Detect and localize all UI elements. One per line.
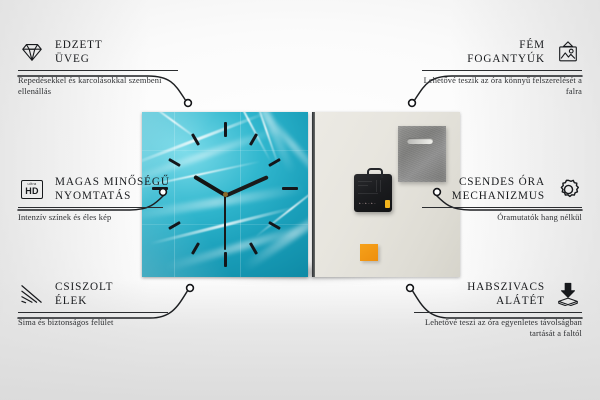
gear-icon <box>554 176 582 202</box>
callout-metal-handles[interactable]: FÉM FOGANTYÚK Lehetővé teszik az óra kön… <box>382 38 582 97</box>
callout-subtitle: Sima és biztonságos felület <box>18 317 178 328</box>
polished-edges-icon <box>18 281 46 307</box>
callout-title-line1: MAGAS MINŐSÉGŰ <box>55 176 170 188</box>
clock-tick-6 <box>224 252 227 267</box>
callout-title-line2: FOGANTYÚK <box>467 53 545 65</box>
infographic-stage: + - + - + - <box>0 0 600 400</box>
callout-divider <box>422 207 582 208</box>
callout-subtitle: Lehetővé teszi az óra egyenletes távolsá… <box>414 317 582 339</box>
callout-subtitle: Repedésekkel és karcolásokkal szembeni e… <box>18 75 178 97</box>
picture-hanger-icon <box>554 39 582 65</box>
callout-title-line2: ÉLEK <box>55 295 87 307</box>
callout-title-line2: ALÁTÉT <box>496 295 545 307</box>
connector-dot-tempered-glass <box>185 100 192 107</box>
callout-title-line1: HABSZIVACS <box>467 281 545 293</box>
foam-spacer-pad <box>360 244 378 261</box>
clock-tick-3 <box>282 187 298 190</box>
callout-title-line1: FÉM <box>519 39 545 51</box>
callout-subtitle: Intenzív színek és éles kép <box>18 212 178 223</box>
callout-subtitle: Óramutatók hang nélkül <box>422 212 582 223</box>
diamond-icon <box>18 39 46 65</box>
ultra-hd-big-text: HD <box>25 186 38 196</box>
callout-tempered-glass[interactable]: EDZETT ÜVEG Repedésekkel és karcolásokka… <box>18 38 218 97</box>
clock-center-cap <box>223 192 228 197</box>
callout-title-line1: CSISZOLT <box>55 281 113 293</box>
callout-polished-edges[interactable]: CSISZOLT ÉLEK Sima és biztonságos felüle… <box>18 280 218 328</box>
callout-subtitle: Lehetővé teszik az óra könnyű felszerelé… <box>422 75 582 97</box>
foam-pad-arrow-icon <box>554 281 582 307</box>
callout-quiet-mechanism[interactable]: CSENDES ÓRA MECHANIZMUS Óramutatók hang … <box>382 175 582 223</box>
callout-divider <box>414 312 582 313</box>
clock-second-hand <box>224 194 226 250</box>
callout-title-line1: EDZETT <box>55 39 103 51</box>
callout-title-line2: ÜVEG <box>55 53 90 65</box>
ultra-hd-icon: ultra HD <box>18 176 46 202</box>
callout-divider <box>18 312 168 313</box>
hanger-keyhole-slot <box>407 138 433 144</box>
callout-divider <box>18 207 163 208</box>
callout-divider <box>422 70 582 71</box>
callout-divider <box>18 70 178 71</box>
clock-tick-12 <box>224 122 227 137</box>
callout-high-quality-print[interactable]: ultra HD MAGAS MINŐSÉGŰ NYOMTATÁS Intenz… <box>18 175 218 223</box>
connector-dot-metal-handles <box>409 100 416 107</box>
callout-title-line1: CSENDES ÓRA <box>459 176 545 188</box>
callout-foam-pad[interactable]: HABSZIVACS ALÁTÉT Lehetővé teszi az óra … <box>382 280 582 339</box>
callout-title-line2: MECHANIZMUS <box>452 190 545 202</box>
callout-title-line2: NYOMTATÁS <box>55 190 131 202</box>
mechanism-hanger-loop <box>367 168 383 178</box>
metal-hanger-plate <box>398 126 446 182</box>
clock-tick-7 <box>191 242 200 255</box>
